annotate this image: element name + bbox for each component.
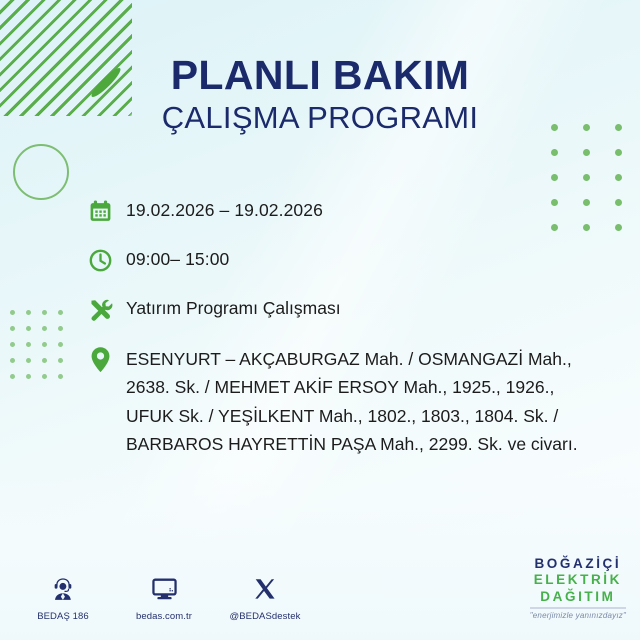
dot <box>26 374 31 379</box>
dot <box>26 358 31 363</box>
page-title: PLANLI BAKIM <box>0 54 640 97</box>
dot <box>42 342 47 347</box>
bedas-logo: BOĞAZİÇİ ELEKTRİK DAĞITIM "enerjimizle y… <box>530 556 626 620</box>
footer-item-twitter[interactable]: @BEDASdestek <box>228 572 302 622</box>
dot <box>583 149 590 156</box>
dot <box>551 174 558 181</box>
page-header: PLANLI BAKIM ÇALIŞMA PROGRAMI <box>0 54 640 136</box>
time-range-value: 09:00– 15:00 <box>126 247 229 269</box>
circle-outline-decoration <box>13 144 69 200</box>
info-list: 19.02.2026 – 19.02.2026 09:00– 15:00 Yat… <box>88 198 633 458</box>
dot <box>615 149 622 156</box>
dot <box>615 174 622 181</box>
date-range-value: 19.02.2026 – 19.02.2026 <box>126 198 323 220</box>
monitor-icon <box>127 572 201 606</box>
tools-icon <box>88 296 126 326</box>
info-row-work-type: Yatırım Programı Çalışması <box>88 296 633 326</box>
dot <box>551 149 558 156</box>
call-center-agent-icon <box>26 572 100 606</box>
location-line: BARBAROS HAYRETTİN PAŞA Mah., 2299. Sk. … <box>126 430 578 458</box>
footer-item-label: BEDAŞ 186 <box>26 611 100 622</box>
dot <box>58 374 63 379</box>
dot-grid-left-decoration <box>10 310 63 379</box>
dot <box>42 326 47 331</box>
dot <box>42 374 47 379</box>
brand-line-elektrik: ELEKTRİK <box>530 572 626 588</box>
dot <box>10 310 15 315</box>
info-row-time: 09:00– 15:00 <box>88 247 633 277</box>
dot <box>26 310 31 315</box>
dot <box>58 326 63 331</box>
dot <box>10 374 15 379</box>
location-line: ESENYURT – AKÇABURGAZ Mah. / OSMANGAZİ M… <box>126 345 578 373</box>
brand-divider <box>530 607 626 609</box>
dot <box>26 326 31 331</box>
dot <box>10 358 15 363</box>
dot <box>10 326 15 331</box>
clock-icon <box>88 247 126 277</box>
x-twitter-icon <box>228 572 302 606</box>
dot <box>58 310 63 315</box>
footer-contact-list: BEDAŞ 186 bedas.com.tr @BEDASdestek <box>26 572 302 622</box>
dot <box>58 358 63 363</box>
dot <box>58 342 63 347</box>
map-pin-icon <box>88 345 126 375</box>
brand-line-bogazici: BOĞAZİÇİ <box>530 556 626 572</box>
footer-item-website[interactable]: bedas.com.tr <box>127 572 201 622</box>
footer-item-label: bedas.com.tr <box>127 611 201 622</box>
dot <box>10 342 15 347</box>
info-row-location: ESENYURT – AKÇABURGAZ Mah. / OSMANGAZİ M… <box>88 345 633 458</box>
brand-line-dagitim: DAĞITIM <box>530 589 626 605</box>
work-type-value: Yatırım Programı Çalışması <box>126 296 341 318</box>
dot <box>26 342 31 347</box>
dot <box>42 310 47 315</box>
location-value: ESENYURT – AKÇABURGAZ Mah. / OSMANGAZİ M… <box>126 345 578 458</box>
page-subtitle: ÇALIŞMA PROGRAMI <box>0 101 640 135</box>
dot <box>42 358 47 363</box>
footer-item-label: @BEDASdestek <box>228 611 302 622</box>
info-row-date: 19.02.2026 – 19.02.2026 <box>88 198 633 228</box>
location-line: UFUK Sk. / YEŞİLKENT Mah., 1802., 1803.,… <box>126 402 578 430</box>
brand-tagline: "enerjimizle yanınızdayız" <box>530 611 626 620</box>
dot <box>583 174 590 181</box>
footer-item-call-center[interactable]: BEDAŞ 186 <box>26 572 100 622</box>
calendar-icon <box>88 198 126 228</box>
location-line: 2638. Sk. / MEHMET AKİF ERSOY Mah., 1925… <box>126 373 578 401</box>
